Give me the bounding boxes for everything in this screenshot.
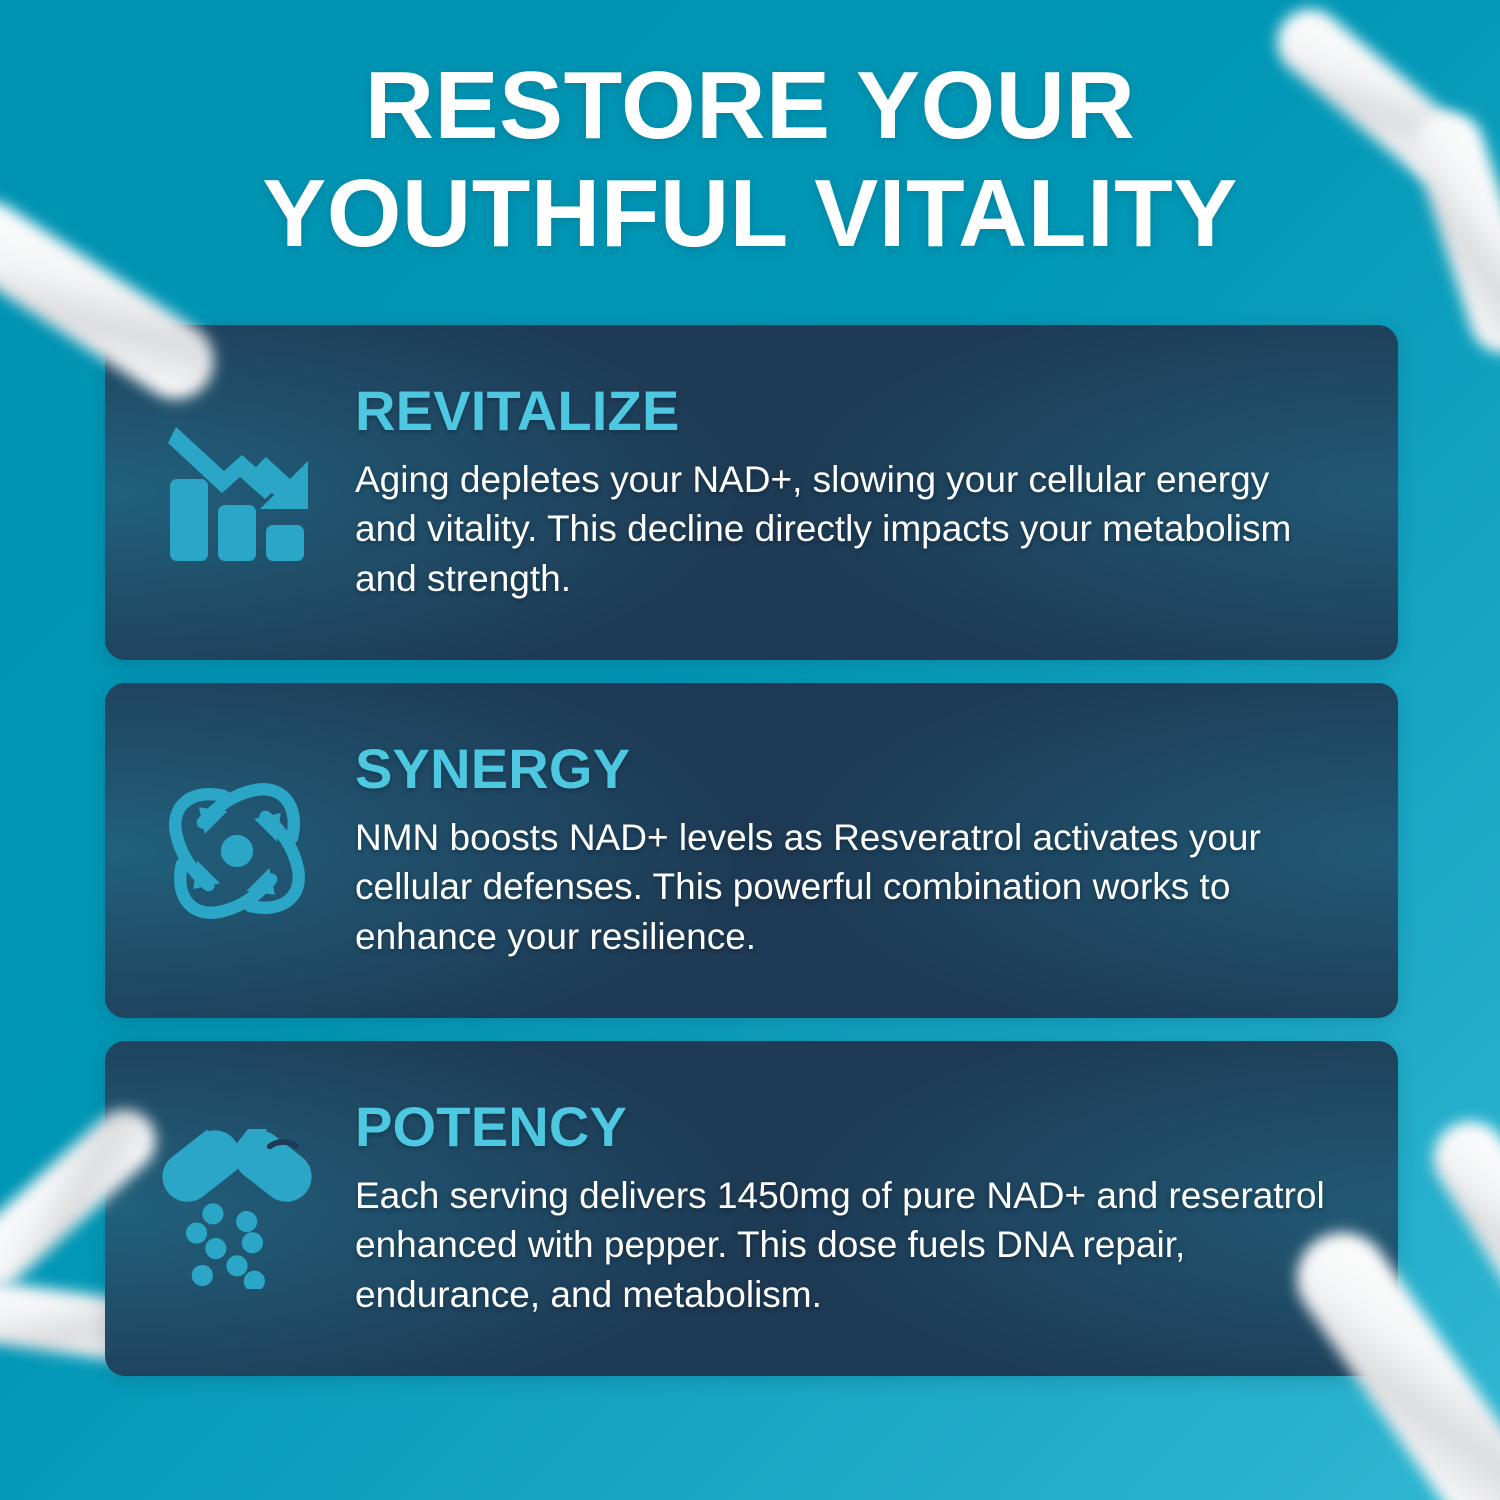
benefit-card-potency-body: POTENCY Each serving delivers 1450mg of … xyxy=(355,1098,1398,1319)
benefit-card-synergy-text: NMN boosts NAD+ levels as Resveratrol ac… xyxy=(355,813,1340,961)
page-title: RESTORE YOUR YOUTHFUL VITALITY xyxy=(0,52,1500,267)
benefit-card-list: REVITALIZE Aging depletes your NAD+, slo… xyxy=(105,325,1398,1399)
benefit-card-potency-text: Each serving delivers 1450mg of pure NAD… xyxy=(355,1171,1340,1319)
capsule-right-lower-icon xyxy=(1419,1107,1500,1358)
benefit-card-synergy: SYNERGY NMN boosts NAD+ levels as Resver… xyxy=(105,683,1398,1018)
headline-line-1: RESTORE YOUR xyxy=(0,52,1500,160)
benefit-card-synergy-body: SYNERGY NMN boosts NAD+ levels as Resver… xyxy=(355,740,1398,961)
open-capsule-granules-icon xyxy=(105,1129,355,1289)
headline-line-2: YOUTHFUL VITALITY xyxy=(0,160,1500,268)
benefit-card-revitalize: REVITALIZE Aging depletes your NAD+, slo… xyxy=(105,325,1398,660)
atom-orbit-arrows-icon xyxy=(105,775,355,927)
benefit-card-potency-title: POTENCY xyxy=(355,1098,1340,1155)
benefit-card-potency: POTENCY Each serving delivers 1450mg of … xyxy=(105,1041,1398,1376)
benefit-card-revitalize-title: REVITALIZE xyxy=(355,382,1340,439)
benefit-card-revitalize-text: Aging depletes your NAD+, slowing your c… xyxy=(355,455,1340,603)
declining-bar-chart-icon xyxy=(105,417,355,569)
infographic-canvas: RESTORE YOUR YOUTHFUL VITALITY xyxy=(0,0,1500,1500)
benefit-card-revitalize-body: REVITALIZE Aging depletes your NAD+, slo… xyxy=(355,382,1398,603)
benefit-card-synergy-title: SYNERGY xyxy=(355,740,1340,797)
